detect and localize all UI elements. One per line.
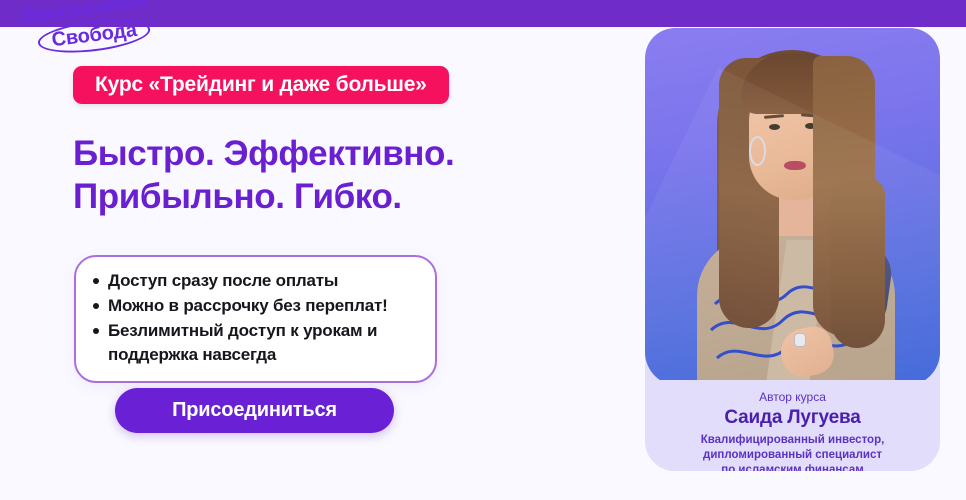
portrait-collar — [825, 240, 895, 339]
portrait-blazer — [697, 236, 895, 386]
author-card: Автор курса Саида Лугуева Квалифицирован… — [645, 28, 940, 471]
promo-banner: Финансовая Свобода Курс «Трейдинг и даже… — [0, 0, 966, 500]
portrait-embroidery — [707, 264, 857, 384]
top-purple-bar — [0, 0, 966, 27]
portrait-eye-left — [769, 124, 780, 130]
list-item: Можно в рассрочку без переплат! — [108, 294, 419, 318]
author-role: Автор курса — [645, 390, 940, 404]
author-description: Квалифицированный инвестор, дипломирован… — [645, 433, 940, 471]
portrait-hair-left — [719, 58, 779, 328]
author-name: Саида Лугуева — [645, 404, 940, 433]
portrait-lips — [784, 161, 806, 170]
portrait-brow-left — [764, 114, 784, 119]
portrait-earring — [749, 136, 766, 166]
headline: Быстро. Эффективно. Прибыльно. Гибко. — [73, 132, 454, 218]
benefits-list: Доступ сразу после оплаты Можно в рассро… — [88, 269, 419, 368]
portrait-hair-front — [831, 178, 885, 348]
portrait-neck — [773, 178, 817, 250]
author-caption: Автор курса Саида Лугуева Квалифицирован… — [645, 380, 940, 471]
course-badge-label: Курс «Трейдинг и даже больше» — [95, 73, 427, 97]
list-item: Доступ сразу после оплаты — [108, 269, 419, 293]
portrait-hair-right — [813, 56, 875, 336]
course-badge: Курс «Трейдинг и даже больше» — [73, 66, 449, 104]
author-photo — [645, 28, 940, 386]
portrait-lapel — [765, 240, 827, 386]
list-item: Безлимитный доступ к урокам и поддержка … — [108, 319, 419, 367]
join-button[interactable]: Присоединиться — [115, 388, 394, 433]
benefits-card: Доступ сразу после оплаты Можно в рассро… — [74, 255, 437, 383]
portrait-hand — [777, 323, 838, 381]
portrait-ring — [795, 334, 805, 346]
portrait-eye-right — [805, 123, 816, 129]
